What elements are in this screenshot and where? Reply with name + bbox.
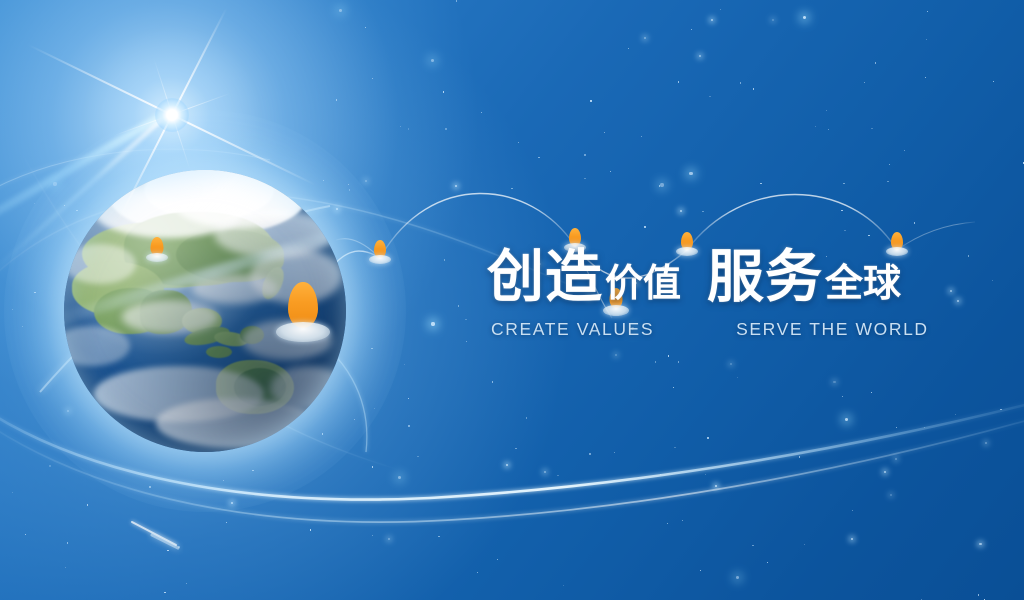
headline-line: 创造 价值 服务 全球 bbox=[487, 249, 929, 306]
earth-globe bbox=[64, 170, 346, 452]
subtitle-create-values: CREATE VALUES bbox=[491, 319, 654, 340]
subtitle-line: CREATE VALUES SERVE THE WORLD bbox=[491, 319, 929, 340]
map-pin-china[interactable] bbox=[146, 237, 168, 261]
headline-phrase1-accent: 价值 bbox=[605, 265, 681, 303]
headline-phrase1-main: 创造 bbox=[487, 249, 603, 306]
map-pin-pacific[interactable] bbox=[276, 282, 330, 342]
headline-phrase2-main: 服务 bbox=[707, 249, 823, 306]
subtitle-serve-the-world: SERVE THE WORLD bbox=[736, 319, 929, 340]
headline-phrase2-accent: 全球 bbox=[825, 265, 901, 303]
banner-stage: 创造 价值 服务 全球 CREATE VALUES SERVE THE WORL… bbox=[0, 0, 1024, 600]
route-pin-1[interactable] bbox=[369, 240, 391, 264]
headline-block: 创造 价值 服务 全球 CREATE VALUES SERVE THE WORL… bbox=[487, 249, 929, 340]
